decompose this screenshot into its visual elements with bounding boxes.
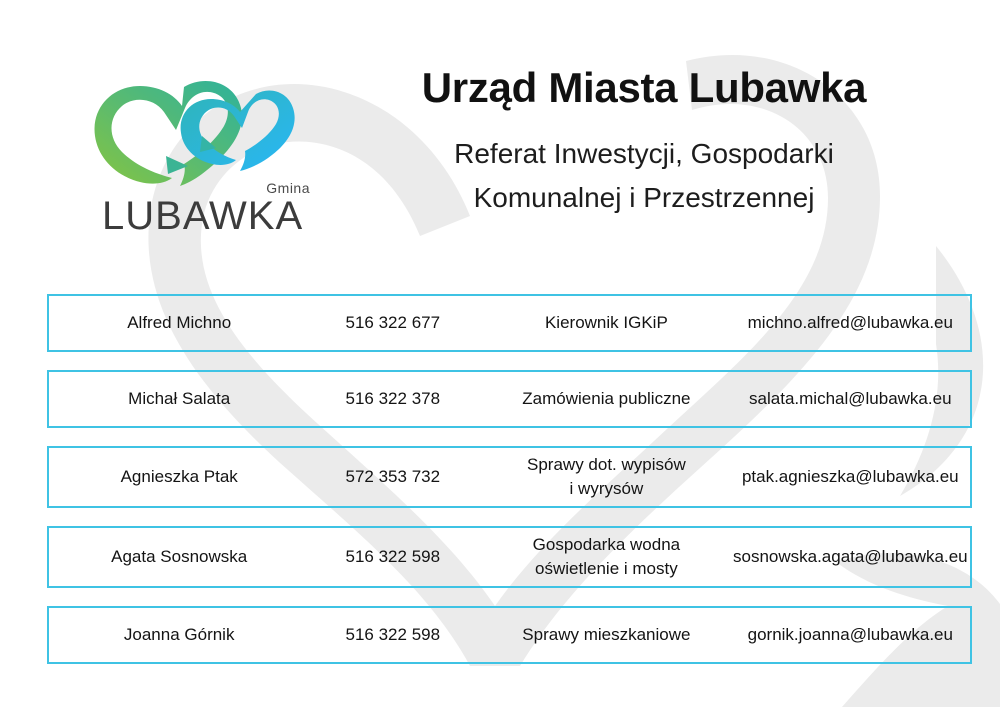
contact-role: Sprawy mieszkaniowe	[482, 623, 730, 647]
page-title: Urząd Miasta Lubawka	[330, 62, 958, 114]
contact-email[interactable]: ptak.agnieszka@lubawka.eu	[731, 465, 970, 489]
contact-phone[interactable]: 516 322 598	[303, 623, 482, 647]
title-block: Urząd Miasta Lubawka Referat Inwestycji,…	[330, 62, 958, 220]
department-subtitle-line1: Referat Inwestycji, Gospodarki	[330, 132, 958, 176]
municipality-logo: Gmina LUBAWKA	[78, 78, 318, 243]
table-row[interactable]: Alfred Michno 516 322 677 Kierownik IGKi…	[47, 294, 972, 352]
contact-role: Zamówienia publiczne	[482, 387, 730, 411]
table-row[interactable]: Joanna Górnik 516 322 598 Sprawy mieszka…	[47, 606, 972, 664]
contact-name: Alfred Michno	[49, 311, 303, 335]
contact-name: Agnieszka Ptak	[49, 465, 303, 489]
contact-role: Gospodarka wodna oświetlenie i mosty	[482, 533, 730, 581]
contact-email[interactable]: gornik.joanna@lubawka.eu	[731, 623, 970, 647]
contact-role-line1: Sprawy mieszkaniowe	[522, 625, 690, 644]
contact-table: Alfred Michno 516 322 677 Kierownik IGKi…	[47, 294, 972, 682]
contact-card-page: Gmina LUBAWKA Urząd Miasta Lubawka Refer…	[0, 0, 1000, 707]
table-row[interactable]: Agata Sosnowska 516 322 598 Gospodarka w…	[47, 526, 972, 588]
table-row[interactable]: Michał Salata 516 322 378 Zamówienia pub…	[47, 370, 972, 428]
contact-phone[interactable]: 516 322 677	[303, 311, 482, 335]
contact-role: Kierownik IGKiP	[482, 311, 730, 335]
contact-role-line1: Gospodarka wodna	[533, 535, 680, 554]
contact-name: Michał Salata	[49, 387, 303, 411]
contact-role: Sprawy dot. wypisów i wyrysów	[482, 453, 730, 501]
table-row[interactable]: Agnieszka Ptak 572 353 732 Sprawy dot. w…	[47, 446, 972, 508]
contact-role-line2: oświetlenie i mosty	[482, 557, 730, 581]
logo-wordmark: Gmina LUBAWKA	[78, 180, 318, 242]
contact-role-line1: Sprawy dot. wypisów	[527, 455, 686, 474]
contact-name: Agata Sosnowska	[49, 545, 303, 569]
contact-email[interactable]: salata.michal@lubawka.eu	[731, 387, 970, 411]
contact-role-line2: i wyrysów	[482, 477, 730, 501]
contact-role-line1: Kierownik IGKiP	[545, 313, 668, 332]
contact-phone[interactable]: 572 353 732	[303, 465, 482, 489]
contact-email[interactable]: sosnowska.agata@lubawka.eu	[731, 545, 970, 569]
contact-email[interactable]: michno.alfred@lubawka.eu	[731, 311, 970, 335]
contact-name: Joanna Górnik	[49, 623, 303, 647]
department-subtitle-line2: Komunalnej i Przestrzennej	[330, 176, 958, 220]
contact-phone[interactable]: 516 322 598	[303, 545, 482, 569]
contact-phone[interactable]: 516 322 378	[303, 387, 482, 411]
contact-role-line1: Zamówienia publiczne	[522, 389, 690, 408]
wordmark-lubawka: LUBAWKA	[102, 194, 303, 238]
card-header: Gmina LUBAWKA Urząd Miasta Lubawka Refer…	[0, 0, 1000, 280]
lubawka-hearts-butterfly-logo	[90, 78, 310, 190]
